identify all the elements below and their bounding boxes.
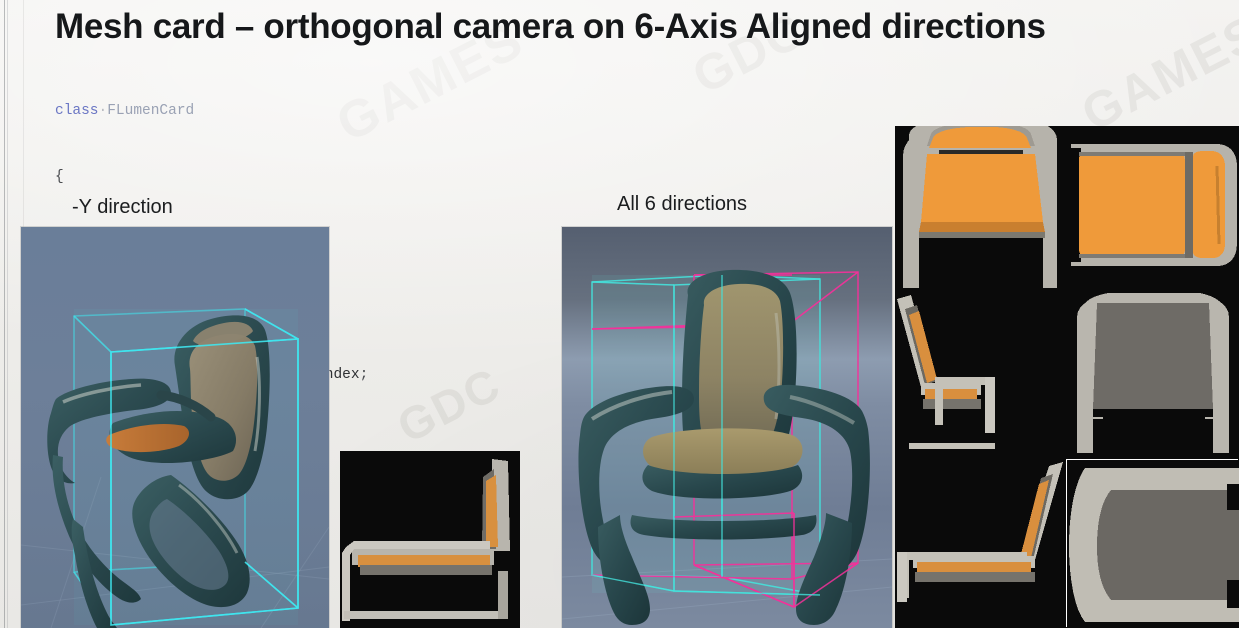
card-gap: [1093, 409, 1213, 417]
chair-seat-cushion: [643, 428, 803, 476]
card-side-view-render: [340, 451, 520, 628]
slide-edge-rule: [4, 0, 5, 628]
card-seat-underside: [923, 399, 981, 409]
card-right-leg: [1043, 238, 1057, 288]
card-seat-underside: [915, 572, 1035, 582]
card-atlas-grid[interactable]: [895, 126, 1239, 628]
card-left-leg: [903, 238, 919, 288]
card-edge-top: [1067, 460, 1239, 464]
card-arm-post: [897, 552, 907, 602]
card-seam: [939, 150, 1023, 154]
card-top-view[interactable]: [1067, 126, 1239, 293]
code-token-keyword: class: [55, 103, 99, 119]
viewport-left-render: [21, 227, 329, 628]
card-seat-underside: [360, 565, 492, 575]
card-pad-edge-bottom: [1079, 254, 1185, 258]
card-notch-top: [1227, 484, 1239, 510]
card-left-leg: [1077, 423, 1093, 453]
card-bottom-view[interactable]: [1067, 460, 1239, 628]
card-seat-shadow: [919, 232, 1045, 238]
card-back-panel: [1093, 303, 1213, 409]
left-viewport-caption: -Y direction: [72, 196, 173, 219]
right-viewport-caption: All 6 directions: [617, 193, 747, 216]
card-inset-side-view[interactable]: [340, 451, 520, 628]
card-notch-bottom: [1227, 580, 1239, 608]
card-rear-post: [498, 571, 508, 619]
code-token-space-dot: ·: [99, 103, 108, 119]
viewport-right-render: [562, 227, 892, 628]
slide-canvas: GAMES GDC GAMES GDC GDC Mesh card – orth…: [0, 0, 1239, 628]
card-base-rail: [909, 443, 995, 449]
card-top-view-render: [1067, 126, 1239, 293]
card-right-leg: [1213, 423, 1229, 453]
card-back-view-render: [1067, 293, 1239, 460]
card-side-right-render: [895, 460, 1067, 628]
card-seat-cushion-top: [1079, 152, 1185, 258]
code-token-punctuation: ;: [360, 367, 369, 383]
card-pad-edge-top: [1079, 152, 1185, 156]
card-side-left-view[interactable]: [895, 293, 1067, 460]
code-token-punctuation: {: [55, 169, 64, 185]
code-token-type: FLumenCard: [107, 103, 194, 119]
card-back-cushion: [921, 154, 1043, 222]
card-backrest-cushion: [486, 475, 498, 547]
card-cushion-edge: [919, 222, 1045, 232]
card-gap-seam: [1185, 152, 1193, 258]
slide-title: Mesh card – orthogonal camera on 6-Axis …: [55, 3, 1175, 51]
card-bottom-view-render: [1067, 460, 1239, 628]
card-back-seam: [1217, 166, 1219, 244]
card-arm-post: [985, 377, 995, 433]
viewport-right-all-6[interactable]: [562, 227, 892, 628]
card-shell-gap: [1067, 148, 1081, 262]
card-base-rail: [344, 611, 500, 619]
card-front-view[interactable]: [895, 126, 1067, 293]
code-line: class·FLumenCard: [55, 100, 368, 122]
viewport-left-minus-y[interactable]: [21, 227, 329, 628]
slide-edge-rule: [7, 0, 8, 628]
card-front-view-render: [895, 126, 1067, 293]
card-side-left-render: [895, 293, 1067, 460]
code-line: {: [55, 166, 368, 188]
card-side-right-view[interactable]: [895, 460, 1067, 628]
card-back-view[interactable]: [1067, 293, 1239, 460]
card-underside-panel: [1097, 490, 1239, 600]
